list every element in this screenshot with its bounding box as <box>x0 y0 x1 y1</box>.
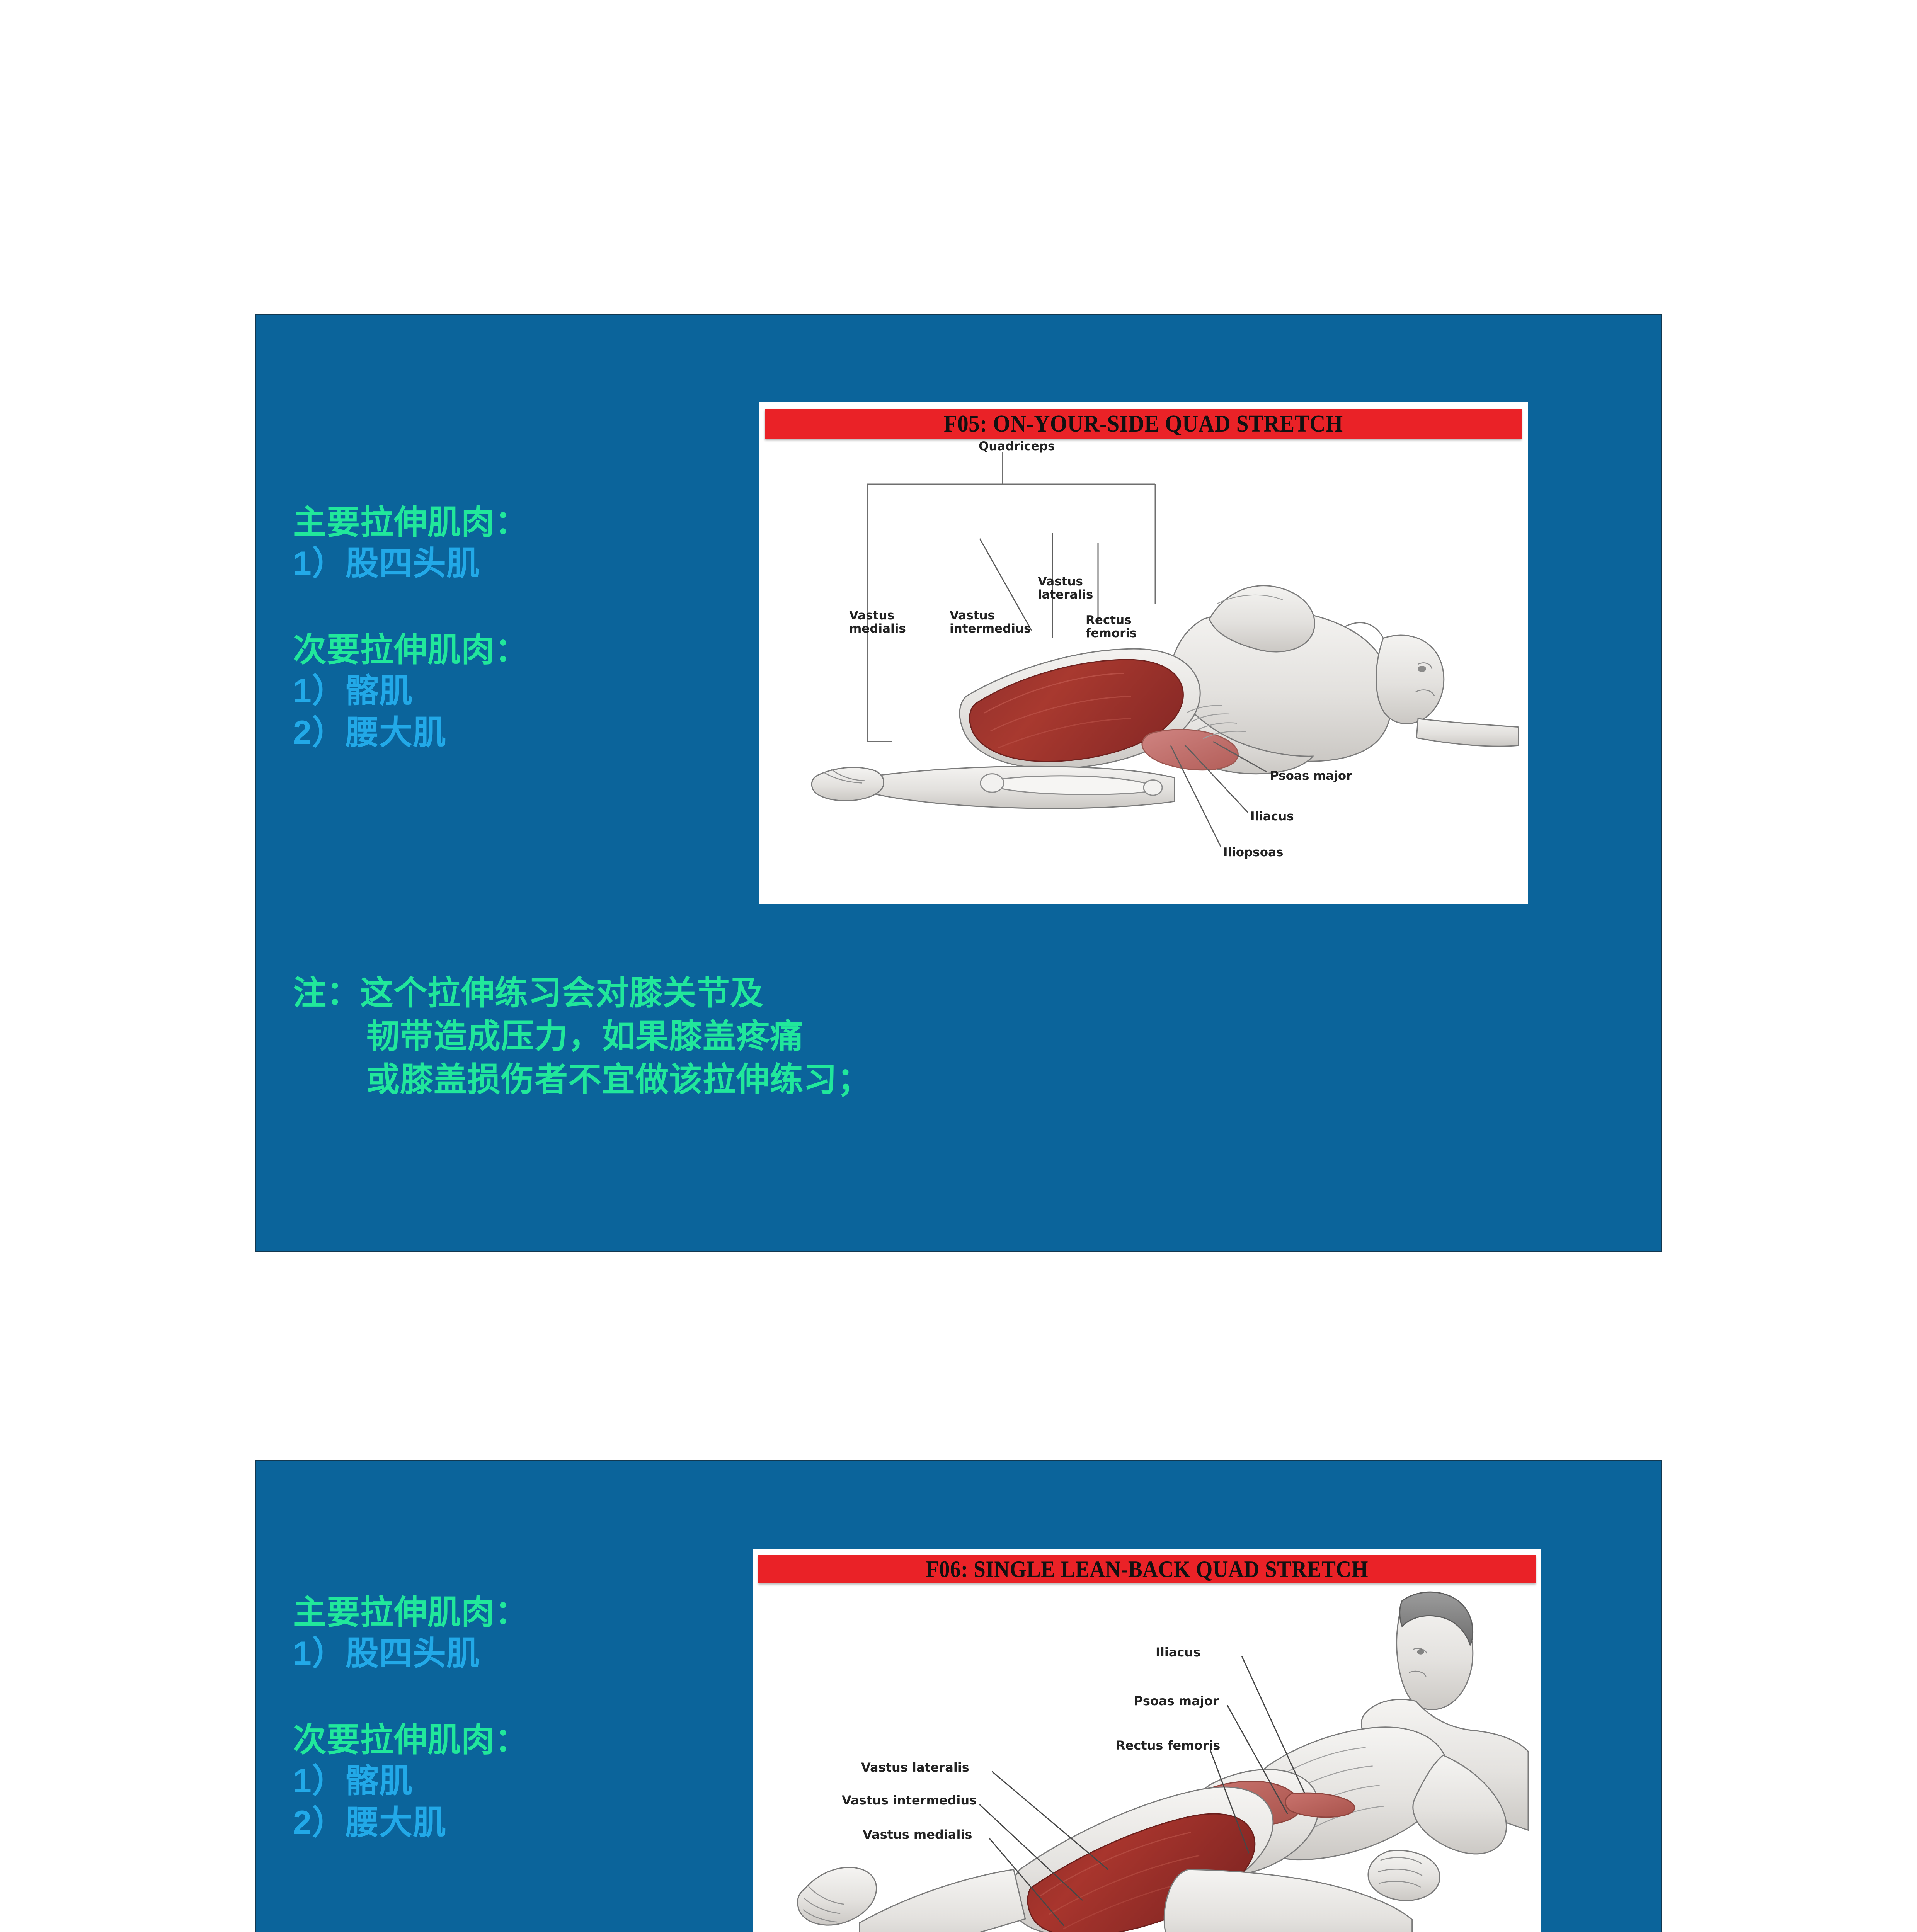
caution-note: 注：这个拉伸练习会对膝关节及 韧带造成压力，如果膝盖疼痛 或膝盖损伤者不宜做该拉… <box>293 972 1221 1101</box>
anatomy-diagram-card: F05: ON-YOUR-SIDE QUAD STRETCH <box>759 402 1528 904</box>
label-vastus-intermedius: Vastus intermedius <box>842 1794 977 1807</box>
slide-f05: 主要拉伸肌肉： 1）股四头肌 次要拉伸肌肉： 1）髂肌 2）腰大肌 注：这个拉伸… <box>255 314 1662 1252</box>
caution-note-line-3: 或膝盖损伤者不宜做该拉伸练习； <box>293 1058 1221 1102</box>
slide-f06: 主要拉伸肌肉： 1）股四头肌 次要拉伸肌肉： 1）髂肌 2）腰大肌 注：这个拉伸… <box>255 1460 1662 1932</box>
anatomy-illustration-svg <box>765 439 1522 895</box>
anatomy-illustration-svg <box>758 1583 1536 1932</box>
label-vastus-lateralis: Vastus lateralis <box>861 1761 969 1774</box>
anatomy-figure: Quadriceps Vastus medialis Vastus interm… <box>765 439 1522 895</box>
label-vastus-medialis: Vastus medialis <box>863 1828 972 1842</box>
diagram-title-bar: F05: ON-YOUR-SIDE QUAD STRETCH <box>765 409 1522 439</box>
label-vastus-medialis: Vastus medialis <box>849 609 906 635</box>
diagram-title: F05: ON-YOUR-SIDE QUAD STRETCH <box>944 410 1343 438</box>
diagram-title: F06: SINGLE LEAN-BACK QUAD STRETCH <box>926 1556 1368 1583</box>
label-psoas-major: Psoas major <box>1134 1694 1219 1708</box>
label-psoas-major: Psoas major <box>1270 769 1352 782</box>
label-iliacus: Iliacus <box>1250 810 1294 823</box>
caution-note-line-2: 韧带造成压力，如果膝盖疼痛 <box>293 1015 1221 1058</box>
label-quadriceps: Quadriceps <box>979 440 1055 453</box>
label-iliopsoas: Iliopsoas <box>1223 846 1283 859</box>
label-vastus-lateralis: Vastus lateralis <box>1038 575 1093 601</box>
diagram-title-bar: F06: SINGLE LEAN-BACK QUAD STRETCH <box>758 1555 1536 1583</box>
label-vastus-intermedius: Vastus intermedius <box>950 609 1031 635</box>
anatomy-figure: Iliacus Psoas major Rectus femoris Vastu… <box>758 1583 1536 1932</box>
label-rectus-femoris: Rectus femoris <box>1116 1739 1220 1752</box>
label-iliacus: Iliacus <box>1156 1646 1200 1659</box>
anatomy-diagram-card: F06: SINGLE LEAN-BACK QUAD STRETCH <box>753 1549 1541 1932</box>
label-rectus-femoris: Rectus femoris <box>1086 614 1137 640</box>
caution-note-line-1: 注：这个拉伸练习会对膝关节及 <box>293 972 1221 1015</box>
